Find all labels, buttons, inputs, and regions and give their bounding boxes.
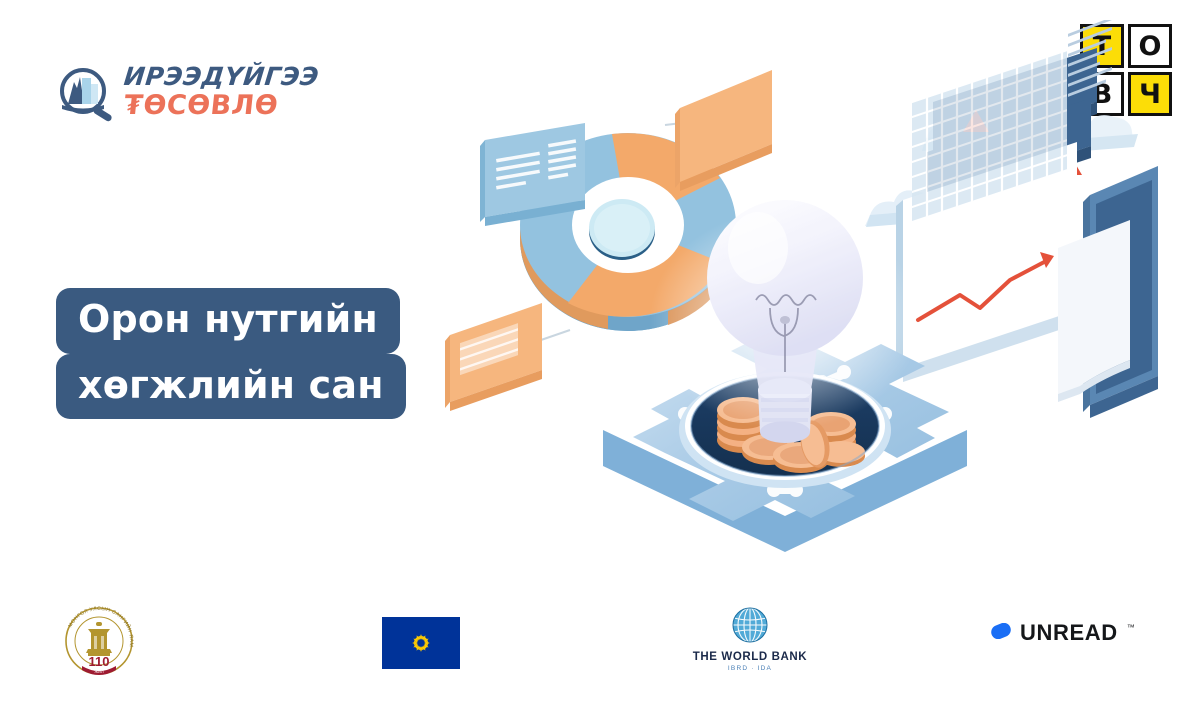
brand-line-1: ИРЭЭДҮЙГЭЭ [123,64,354,90]
headline-block: Орон нутгийн хөгжлийн сан [56,288,476,419]
card-bottom-left-orange [445,303,542,411]
unread-logo[interactable]: UNREAD ™ [990,622,1135,644]
svg-text:ЖИЛ: ЖИЛ [94,669,104,674]
world-bank-subtitle: IBRD · IDA [692,665,808,672]
brand-line-2: ₮ӨСӨВЛӨ [123,92,354,120]
brand-wordmark: ИРЭЭДҮЙГЭЭ ₮ӨСӨВЛӨ [124,64,352,121]
magnifier-city-icon [52,64,118,130]
globe-icon [692,605,808,645]
headline-pill-2: хөгжлийн сан [56,354,406,420]
partner-logos-row: МОНГОЛ УЛСЫН САНГИЙН ЯАМ 110 ЖИЛ [0,595,1200,685]
ministry-of-finance-seal: МОНГОЛ УЛСЫН САНГИЙН ЯАМ 110 ЖИЛ [58,600,140,682]
poster-canvas: ИРЭЭДҮЙГЭЭ ₮ӨСӨВЛӨ Т О В Ч Орон нутгийн … [0,0,1200,720]
unread-wordmark: UNREAD [1020,622,1118,644]
unread-trademark: ™ [1127,623,1135,632]
unread-pill-icon [990,623,1012,644]
world-bank-logo: THE WORLD BANK IBRD · IDA [692,605,808,677]
svg-text:110: 110 [89,654,110,669]
brand-logo: ИРЭЭДҮЙГЭЭ ₮ӨСӨВЛӨ [52,58,352,138]
hero-illustration [440,20,1200,590]
headline-pill-1: Орон нутгийн [56,288,400,354]
card-left-blue [480,123,585,226]
european-union-flag [382,617,460,669]
world-bank-title: THE WORLD BANK [692,651,808,663]
